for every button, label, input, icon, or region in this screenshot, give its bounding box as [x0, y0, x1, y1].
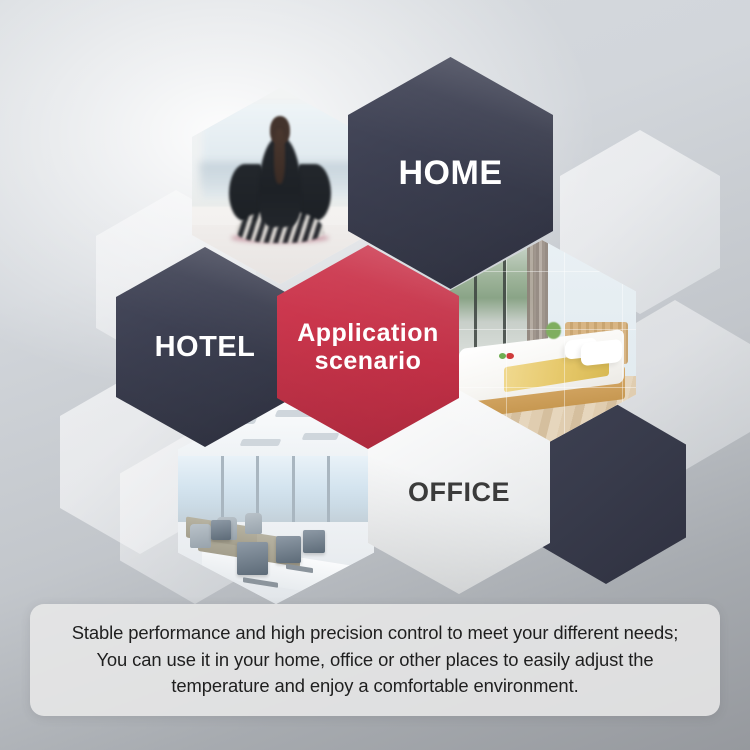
office-monitor	[211, 520, 231, 541]
hex-tile-office-label: OFFICE	[408, 477, 510, 507]
hex-tile-application-scenario-label: Application scenario	[297, 319, 439, 375]
caption-box: Stable performance and high precision co…	[30, 604, 720, 716]
office-monitor	[237, 542, 268, 575]
bedroom-pillow	[581, 339, 622, 366]
office-window-mullion	[221, 456, 224, 526]
office-ceiling-lamp	[239, 439, 281, 446]
hex-tile-home-label: HOME	[399, 154, 503, 192]
office-window-mullion	[292, 456, 295, 526]
hex-tile-hotel-label: HOTEL	[155, 331, 256, 363]
application-scenario-line-1: Application	[297, 319, 439, 347]
office-chair	[190, 524, 212, 549]
office-window-wall	[178, 456, 374, 526]
office-window-mullion	[327, 456, 330, 526]
yoga-ponytail	[274, 129, 285, 184]
bedroom-plant	[546, 322, 561, 338]
caption-text: Stable performance and high precision co…	[56, 620, 694, 701]
promo-graphic: HOME HOTEL OFFICE Application scenario S…	[0, 0, 750, 750]
office-chair	[245, 513, 263, 534]
application-scenario-line-2: scenario	[315, 347, 422, 375]
office-ceiling-lamp	[302, 433, 340, 440]
office-monitor	[303, 530, 325, 553]
office-monitor	[276, 536, 301, 563]
